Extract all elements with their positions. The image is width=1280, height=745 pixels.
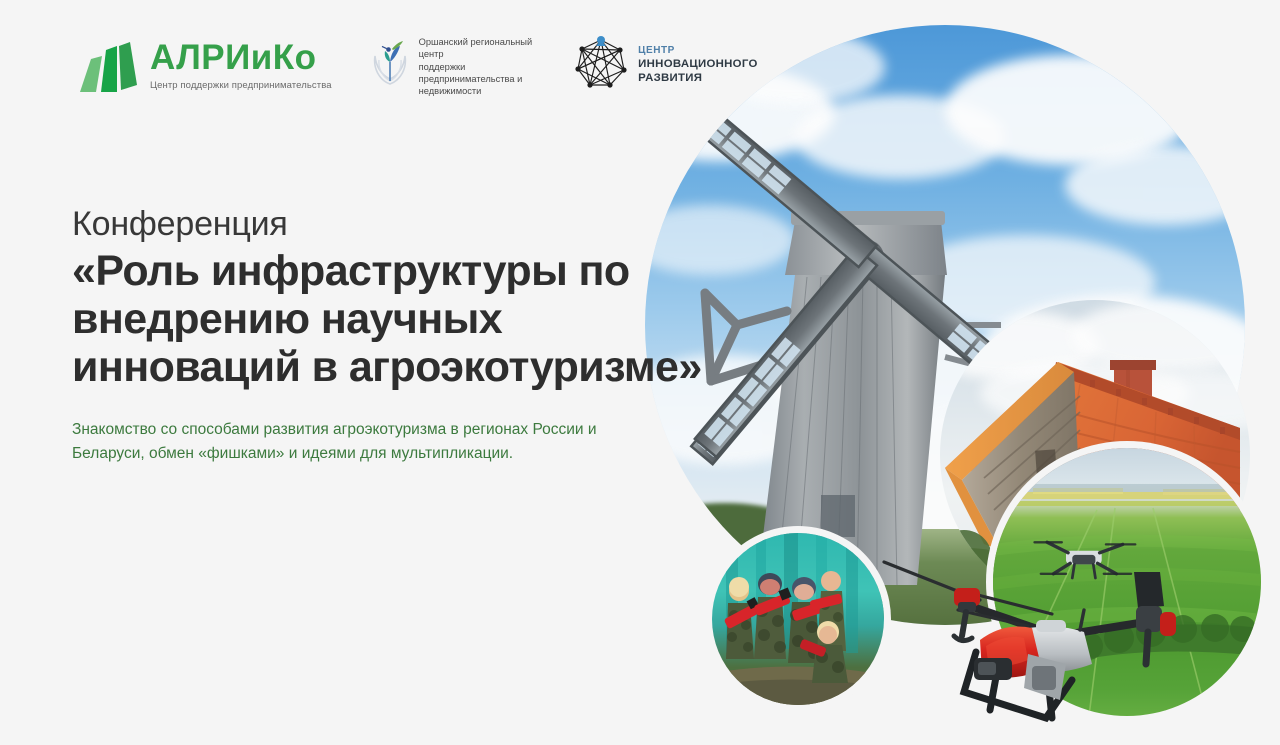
page-eyebrow: Конференция (72, 205, 712, 243)
logo-alriiko-name: АЛРИиКо (150, 40, 332, 75)
page-description: Знакомство со способами развития агроэко… (72, 418, 657, 466)
hero-copy: Конференция «Роль инфраструктуры по внед… (72, 205, 712, 466)
orsha-line-1: Оршанский региональный (419, 36, 533, 48)
kids-lasertag-illustration (712, 533, 884, 705)
page-title: «Роль инфраструктуры по внедрению научны… (72, 247, 702, 391)
logo-orshansky[interactable]: Оршанский региональный центр поддержки п… (370, 36, 533, 98)
conference-poster: АЛРИиКо Центр поддержки предпринимательс… (0, 0, 1280, 745)
network-polygon-icon (574, 36, 628, 90)
three-green-bars-icon (78, 40, 140, 96)
logo-alriiko[interactable]: АЛРИиКо Центр поддержки предпринимательс… (78, 36, 332, 96)
orsha-line-3: поддержки (419, 61, 533, 73)
logo-alriiko-tagline: Центр поддержки предпринимательства (150, 80, 332, 91)
orsha-line-4: предпринимательства и (419, 73, 533, 85)
logo-orshansky-text: Оршанский региональный центр поддержки п… (419, 36, 533, 98)
orsha-line-2: центр (419, 48, 533, 60)
hummingbird-in-hands-icon (370, 36, 410, 88)
orsha-line-5: недвижимости (419, 85, 533, 97)
agro-drone-foreground (862, 548, 1192, 734)
kids-lasertag-photo-circle (712, 533, 884, 705)
